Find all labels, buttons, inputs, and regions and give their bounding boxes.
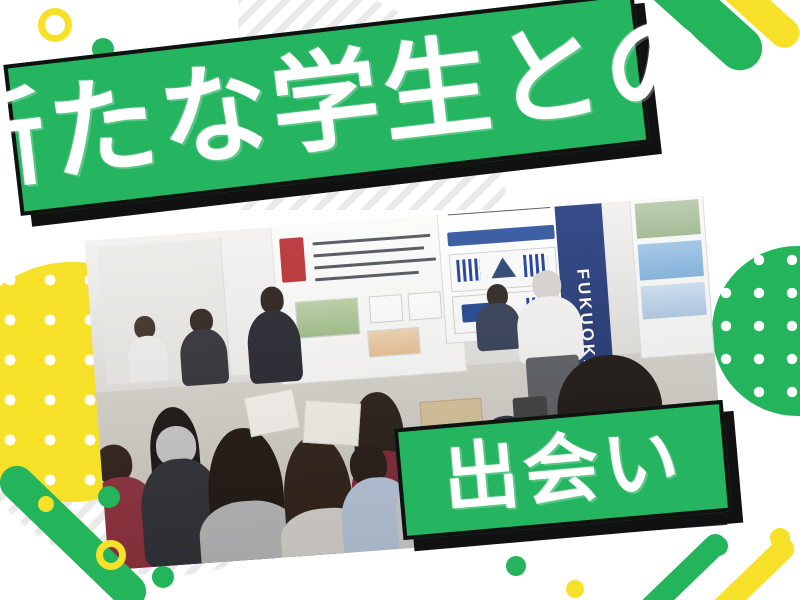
headline-text-line1: 新たな学生との bbox=[0, 5, 722, 202]
green-dotted-circle-icon bbox=[712, 246, 800, 416]
headline-text-line2: 出会い bbox=[440, 422, 686, 519]
headline-banner-top: 新たな学生との bbox=[3, 0, 650, 216]
green-dot-bottom-center-icon bbox=[506, 556, 526, 576]
yellow-dot-bottom-left-icon bbox=[38, 496, 54, 512]
yellow-bar-top-right-2-icon bbox=[742, 0, 800, 109]
poster-canvas: FUKUOKA from the World to bbox=[0, 0, 800, 600]
yellow-dot-bottom-center-icon bbox=[566, 580, 584, 598]
yellow-bar-bottom-right-icon bbox=[697, 533, 799, 600]
yellow-ring-top-left-icon bbox=[38, 8, 72, 42]
green-dot-bottom-left-2-icon bbox=[152, 566, 174, 588]
green-bar-bottom-right-icon bbox=[629, 529, 731, 600]
green-dot-bottom-right-icon bbox=[708, 536, 728, 556]
yellow-bar-bottom-left-icon bbox=[0, 440, 105, 566]
yellow-dot-bottom-right-icon bbox=[770, 528, 790, 548]
